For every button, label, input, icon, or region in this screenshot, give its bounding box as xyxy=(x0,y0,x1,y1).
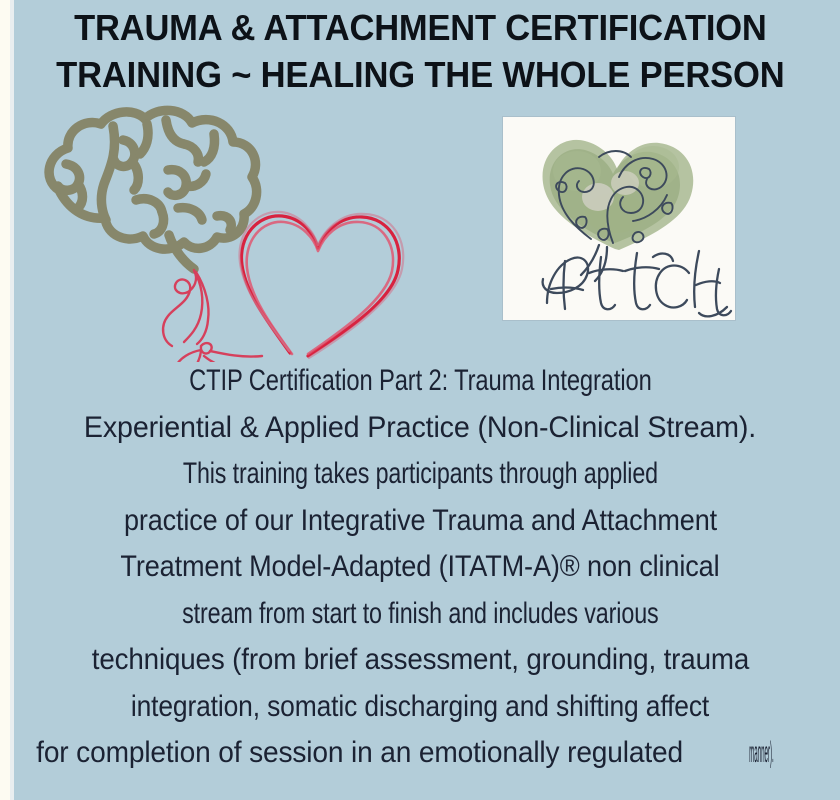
attch-heart-tree-logo xyxy=(503,117,735,320)
poster-description: CTIP Certification Part 2: Trauma Integr… xyxy=(0,358,840,777)
description-line-4: practice of our Integrative Trauma and A… xyxy=(123,498,716,545)
description-line-9: for completion of session in an emotiona… xyxy=(36,730,683,777)
description-line-6: stream from start to finish and includes… xyxy=(182,591,658,638)
poster-title-line-1: TRAUMA & ATTACHMENT CERTIFICATION xyxy=(74,4,767,51)
heart-icon xyxy=(239,212,403,358)
description-line-7: techniques (from brief assessment, groun… xyxy=(91,637,748,684)
brain-heart-illustration xyxy=(18,104,438,362)
attch-logo-card xyxy=(503,117,735,320)
left-edge-strip-accent xyxy=(10,0,14,800)
description-line-3: This training takes participants through… xyxy=(182,451,657,498)
promotional-poster: TRAUMA & ATTACHMENT CERTIFICATION TRAINI… xyxy=(0,0,840,800)
poster-title: TRAUMA & ATTACHMENT CERTIFICATION TRAINI… xyxy=(0,4,840,98)
description-line-8: integration, somatic discharging and shi… xyxy=(131,684,709,731)
description-line-5: Treatment Model-Adapted (ITATM-A)® non c… xyxy=(120,544,719,591)
poster-title-line-2: TRAINING ~ HEALING THE WHOLE PERSON xyxy=(56,51,784,98)
brain-icon xyxy=(49,110,257,269)
description-line-2: Experiential & Applied Practice (Non-Cli… xyxy=(84,405,756,452)
description-line-10: manner). xyxy=(750,730,774,777)
description-line-1: CTIP Certification Part 2: Trauma Integr… xyxy=(189,358,652,405)
